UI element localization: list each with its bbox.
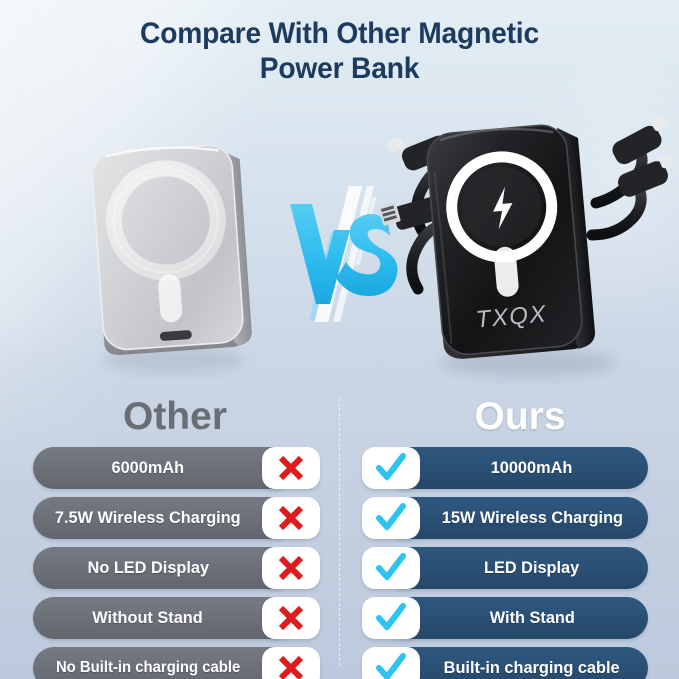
cross-badge [262,497,320,539]
cross-badge [262,597,320,639]
ours-feature-label: 15W Wireless Charging [441,509,622,527]
page-title-line-1: Compare With Other Magnetic [140,17,539,50]
column-heading-ours: Ours [420,396,620,438]
table-row: No LED Display LED Display [0,547,679,589]
comparison-table: 6000mAh 10000mAh 7.5W Wireless Charging [0,447,679,679]
infographic-canvas: Compare With Other Magnetic Power Bank [0,0,679,679]
cross-icon [276,553,306,583]
check-badge [362,597,420,639]
check-icon [375,453,407,483]
table-row: 7.5W Wireless Charging 15W Wireless Char… [0,497,679,539]
table-row: Without Stand With Stand [0,597,679,639]
check-icon [375,553,407,583]
other-feature-label: 6000mAh [112,459,185,477]
table-row: No Built-in charging cable Built-in char… [0,647,679,679]
ours-feature-label: With Stand [489,609,574,627]
ours-feature-label: Built-in charging cable [444,659,620,677]
ours-feature-pill: With Stand [384,597,648,639]
indicator-pill-icon [158,274,183,323]
other-power-bank-image [78,132,268,380]
check-icon [375,603,407,633]
check-icon [375,503,407,533]
cross-badge [262,647,320,679]
lightning-tip-upper-left-icon [386,136,405,153]
other-feature-label: No LED Display [87,559,209,577]
other-feature-pill: No Built-in charging cable [33,647,295,679]
column-heading-other: Other [75,396,275,438]
ours-feature-pill: Built-in charging cable [384,647,648,679]
ours-power-bank-svg: TXQX [378,105,673,385]
page-title: Compare With Other Magnetic Power Bank [20,16,658,86]
other-power-bank-svg [78,132,268,380]
cross-icon [276,453,306,483]
page-title-line-2: Power Bank [20,51,658,86]
other-feature-label: Without Stand [93,609,203,627]
table-row: 6000mAh 10000mAh [0,447,679,489]
check-badge [362,647,420,679]
other-feature-pill: 7.5W Wireless Charging [33,497,295,539]
check-badge [362,447,420,489]
other-feature-pill: No LED Display [33,547,295,589]
other-feature-label: 7.5W Wireless Charging [55,509,241,527]
ours-feature-pill: 10000mAh [384,447,648,489]
cross-badge [262,547,320,589]
cross-icon [276,653,306,679]
cross-icon [276,603,306,633]
ours-feature-pill: LED Display [384,547,648,589]
check-badge [362,497,420,539]
other-feature-pill: Without Stand [33,597,295,639]
ours-feature-label: 10000mAh [491,459,573,477]
other-feature-pill: 6000mAh [33,447,295,489]
ours-body: TXQX [425,122,596,360]
check-badge [362,547,420,589]
ours-power-bank-image: TXQX [378,105,673,385]
ours-feature-label: LED Display [484,559,579,577]
cross-icon [276,503,306,533]
other-feature-label: No Built-in charging cable [56,659,240,677]
cross-badge [262,447,320,489]
ours-feature-pill: 15W Wireless Charging [384,497,648,539]
check-icon [375,653,407,679]
